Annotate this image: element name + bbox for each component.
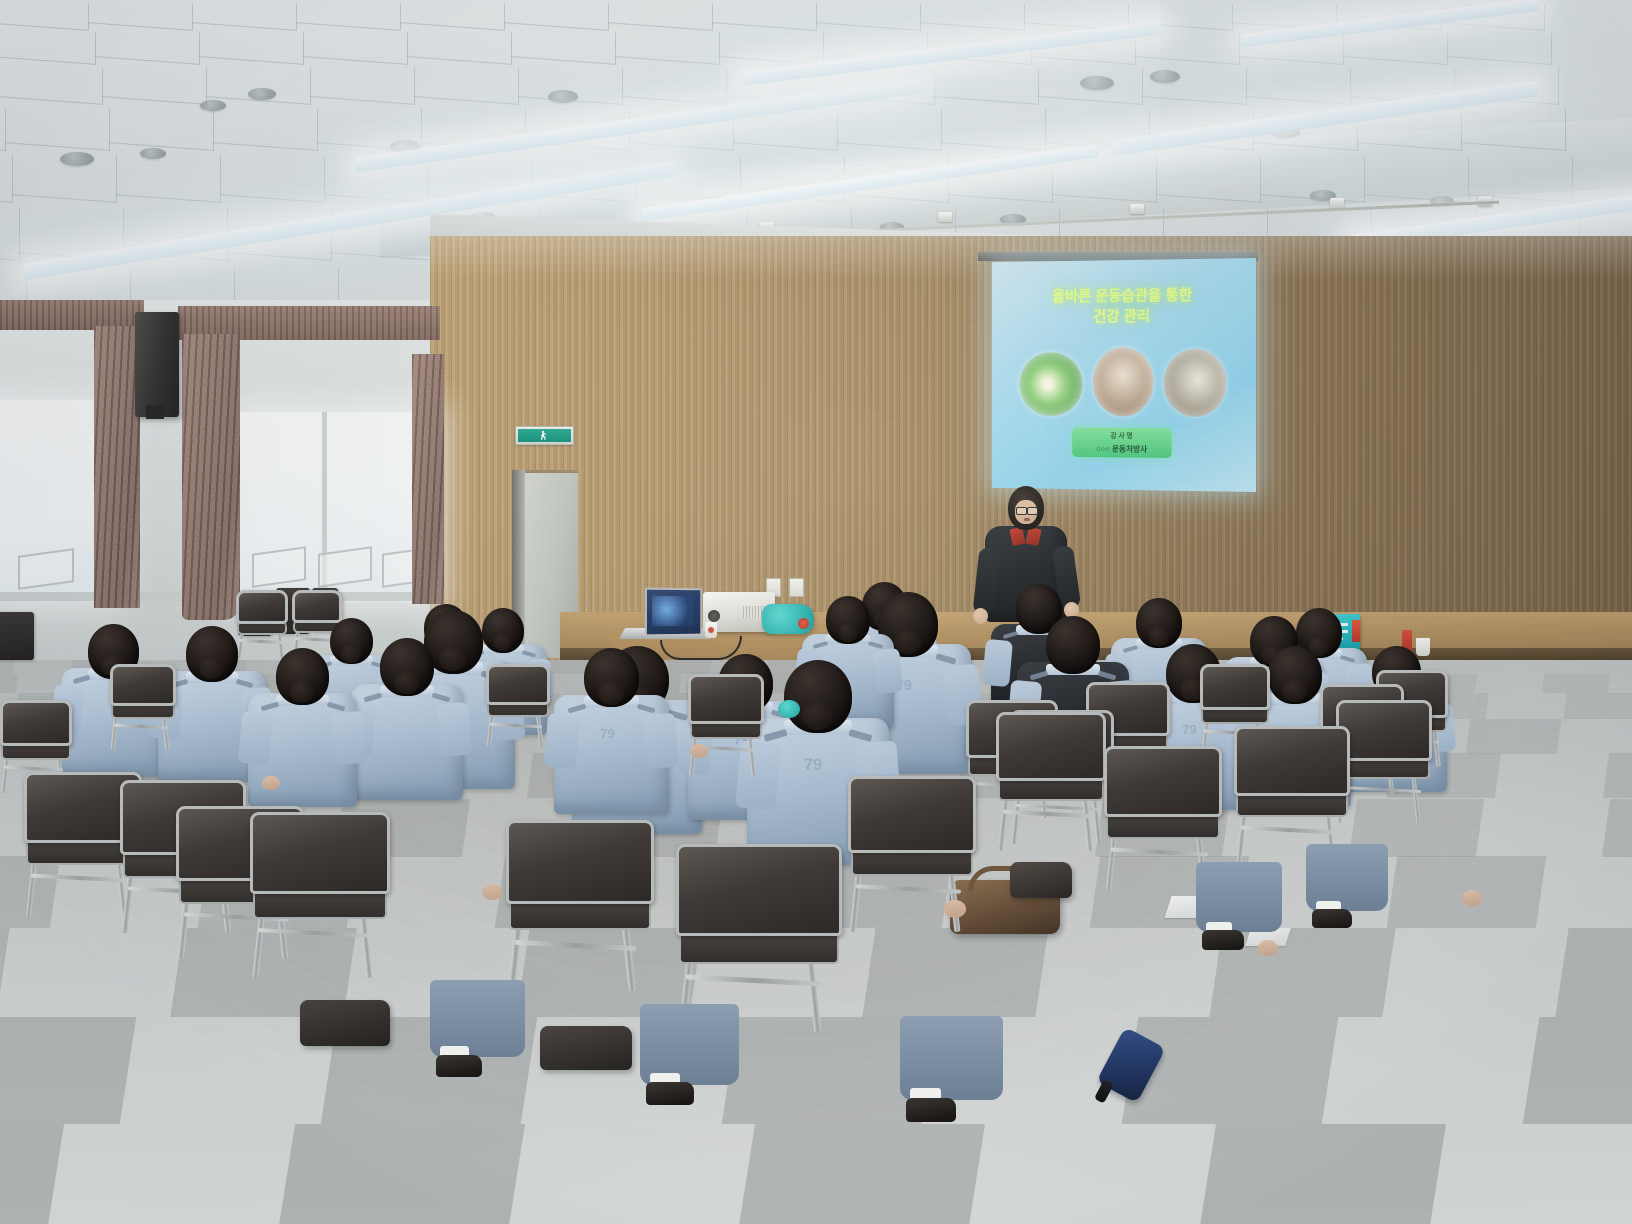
- uniform-epaulet-right: [1097, 670, 1116, 680]
- chair-leg-cross: [490, 722, 543, 728]
- audience-member-head: [1046, 616, 1100, 674]
- uniform-epaulet-left: [568, 704, 587, 714]
- hair-bun: [439, 646, 466, 672]
- uniform-epaulet-right: [1340, 655, 1356, 664]
- chair-backrest: [848, 776, 976, 853]
- uniform-sleeve-right: [437, 702, 473, 758]
- photo-scene: 올바른 운동습관을 통한 건강 관리 강 사 명 ○○○ 운동처방사: [0, 0, 1632, 1224]
- chair-leg-cross: [856, 885, 961, 895]
- audience-group: 79797979797979: [0, 0, 1632, 1224]
- chair-leg-cross: [515, 940, 636, 951]
- folding-chair[interactable]: [110, 664, 176, 774]
- hand: [1258, 940, 1278, 956]
- shoe: [1312, 909, 1352, 928]
- uniform-epaulet-left: [73, 675, 91, 684]
- folding-chair[interactable]: [506, 820, 654, 1040]
- chair-backrest: [110, 664, 176, 706]
- uniform-sleeve-left: [982, 639, 1013, 687]
- shoe: [1202, 930, 1244, 950]
- chair-leg-cross: [1111, 847, 1208, 856]
- uniform-epaulet-right: [522, 650, 537, 658]
- chair-leg-cross: [1342, 786, 1421, 793]
- hair-bun: [838, 623, 858, 642]
- hair-bun: [1282, 678, 1307, 701]
- hand: [1462, 890, 1482, 906]
- uniform-epaulet-left: [1122, 645, 1138, 654]
- chair-backrest: [0, 700, 72, 746]
- hair-scrunchie: [778, 700, 800, 718]
- uniform-back-number: 79: [600, 726, 615, 741]
- shoe: [906, 1098, 956, 1122]
- chair-leg-cross: [258, 928, 373, 938]
- uniform-epaulet-right: [636, 704, 655, 714]
- hair-bun: [598, 681, 623, 705]
- audience-member-torso: [351, 684, 463, 800]
- chair-leg-cross: [1003, 809, 1093, 817]
- chair-backrest: [1104, 746, 1222, 817]
- chair-backrest: [676, 844, 842, 936]
- chair-backrest: [506, 820, 654, 904]
- chair-backrest: [1200, 664, 1270, 710]
- uniform-epaulet-left: [1002, 631, 1018, 640]
- uniform-back-number: 79: [804, 756, 822, 775]
- uniform-epaulet-right: [868, 641, 883, 649]
- hair-bun: [341, 644, 361, 663]
- hand: [482, 884, 502, 900]
- hair-bun: [802, 701, 833, 730]
- audience-member-torso: 79: [554, 695, 668, 813]
- folding-chair[interactable]: [486, 664, 550, 771]
- chair-backrest: [1336, 700, 1432, 761]
- uniform-back-number: 79: [1182, 722, 1197, 737]
- folding-chair[interactable]: [996, 712, 1106, 891]
- chair-backrest: [292, 590, 342, 623]
- uniform-epaulet-right: [235, 678, 253, 688]
- uniform-sleeve-right: [332, 710, 367, 765]
- chair-backrest: [1234, 726, 1350, 796]
- shoe: [646, 1082, 694, 1105]
- hair-bun: [290, 680, 314, 703]
- folding-chair[interactable]: [250, 812, 390, 1025]
- uniform-epaulet-right: [326, 701, 344, 711]
- uniform-epaulet-left: [813, 641, 828, 649]
- chair-leg-cross: [239, 639, 282, 644]
- chair-leg-cross: [1241, 825, 1336, 834]
- uniform-epaulet-left: [260, 701, 278, 711]
- uniform-sleeve-right: [873, 648, 902, 694]
- uniform-epaulet-right: [431, 692, 450, 702]
- shoe: [436, 1055, 482, 1077]
- uniform-epaulet-right: [849, 729, 873, 742]
- folding-chair[interactable]: [688, 674, 764, 805]
- chair-backrest: [250, 812, 390, 894]
- chair-leg-cross: [31, 873, 128, 882]
- folding-chair[interactable]: [1336, 700, 1432, 858]
- uniform-epaulet-left: [1030, 670, 1049, 680]
- uniform-sleeve-left: [238, 710, 273, 765]
- hair-bun: [394, 670, 419, 693]
- chair-backrest: [688, 674, 764, 724]
- chair-leg-cross: [4, 766, 63, 772]
- chair-backrest: [236, 590, 288, 624]
- chair-backrest: [996, 712, 1106, 781]
- chair-backrest: [486, 664, 550, 705]
- chair-leg-cross: [114, 724, 168, 730]
- uniform-sleeve-right: [642, 713, 679, 770]
- uniform-epaulet-right: [935, 653, 956, 664]
- audience-member-torso: [248, 693, 358, 807]
- uniform-epaulet-left: [364, 692, 383, 702]
- folding-chair[interactable]: [848, 776, 976, 976]
- uniform-epaulet-left: [764, 729, 788, 742]
- hand: [944, 900, 966, 918]
- chair-leg-cross: [686, 975, 822, 987]
